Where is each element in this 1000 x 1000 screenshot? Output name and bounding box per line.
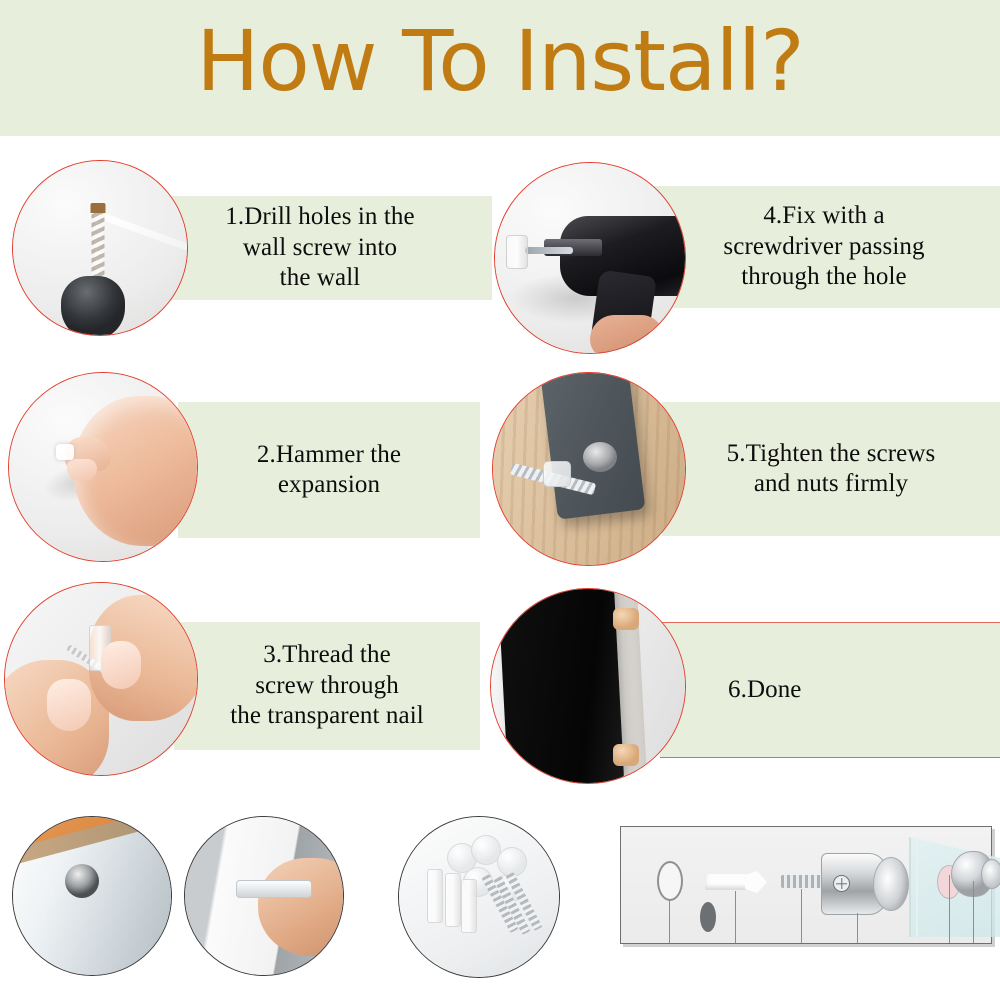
wall-anchor-icon	[705, 871, 767, 893]
step-2-text: 2.Hammer the expansion	[249, 440, 409, 501]
step-1-banner: 1.Drill holes in the wall screw into the…	[148, 196, 492, 300]
cordless-drill-photo	[494, 162, 686, 354]
hardware-parts-flatlay-photo	[398, 816, 560, 978]
fingers-pressing-anchor-photo	[8, 372, 198, 562]
mirror-corner-standoff-photo	[12, 816, 172, 976]
bottom-gallery-row	[0, 812, 1000, 1000]
step-4-text: 4.Fix with a screwdriver passing through…	[715, 201, 932, 293]
hands-holding-transparent-nail-photo	[4, 582, 198, 776]
page-title: How To Install?	[0, 14, 1000, 108]
metal-standoff-icon	[821, 853, 909, 915]
drill-bit-on-wall-photo	[12, 160, 188, 336]
step-3-banner: 3.Thread the screw through the transpare…	[174, 622, 480, 750]
step-5-banner: 5.Tighten the screws and nuts firmly	[662, 402, 1000, 536]
step-2-banner: 2.Hammer the expansion	[178, 402, 480, 538]
decorative-cap-icon	[951, 851, 1000, 897]
exploded-assembly-diagram	[620, 826, 992, 944]
hand-installing-fitting-photo	[184, 816, 344, 976]
step-3-text: 3.Thread the screw through the transpare…	[222, 640, 432, 732]
screw-icon	[781, 875, 825, 888]
panel-on-wood-with-screw-photo	[492, 372, 686, 566]
step-1-text: 1.Drill holes in the wall screw into the…	[217, 202, 422, 294]
step-4-banner: 4.Fix with a screwdriver passing through…	[648, 186, 1000, 308]
step-6-text: 6.Done	[720, 675, 810, 706]
mounted-black-panel-photo	[490, 588, 686, 784]
drilled-hole-icon	[657, 861, 683, 901]
step-6-banner: 6.Done	[660, 622, 1000, 758]
step-5-text: 5.Tighten the screws and nuts firmly	[719, 439, 944, 500]
